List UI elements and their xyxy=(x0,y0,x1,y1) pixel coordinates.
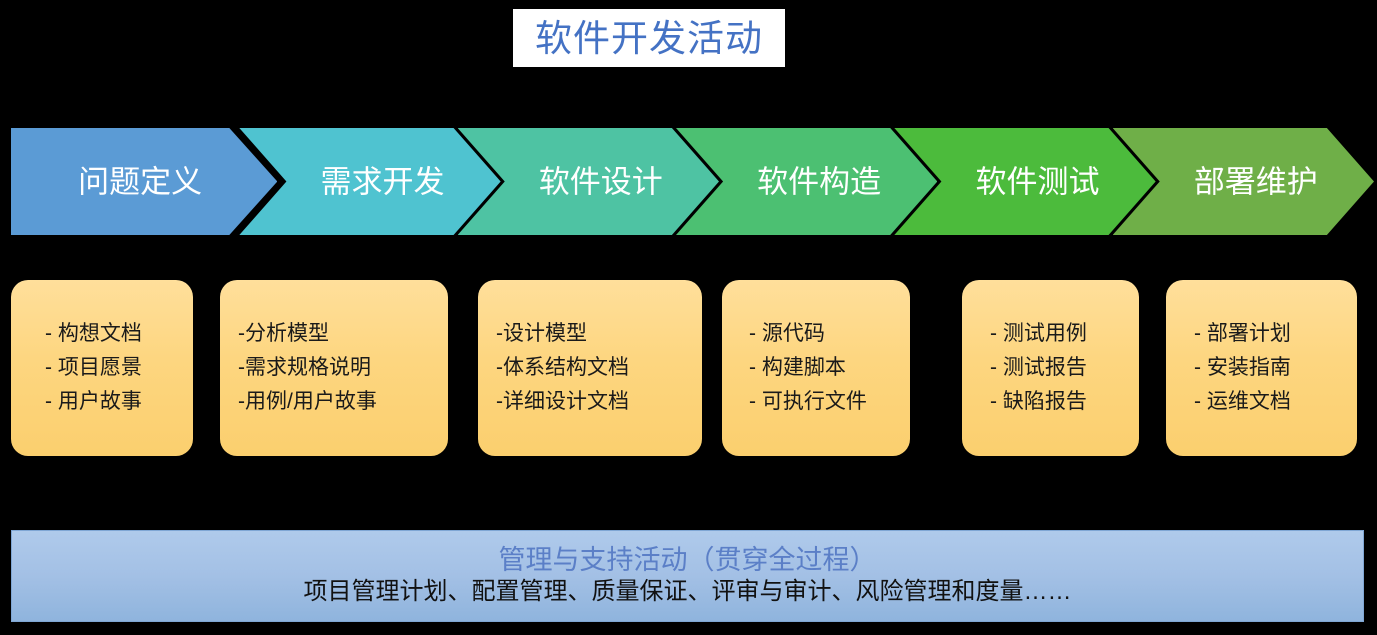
deliverable-item: -需求规格说明 xyxy=(238,351,448,385)
deliverable-item: - 安装指南 xyxy=(1194,351,1357,385)
deliverable-item: - 测试报告 xyxy=(990,351,1139,385)
deliverable-item: - 构建脚本 xyxy=(749,351,910,385)
deliverable-list: -设计模型-体系结构文档-详细设计文档 xyxy=(478,317,702,419)
phase-chevron-1[interactable]: 问题定义 xyxy=(11,128,277,235)
support-activities-bar: 管理与支持活动（贯穿全过程） 项目管理计划、配置管理、质量保证、评审与审计、风险… xyxy=(11,530,1364,622)
deliverable-list: - 测试用例- 测试报告- 缺陷报告 xyxy=(962,317,1139,419)
phase-label-6: 部署维护 xyxy=(1167,166,1345,197)
deliverable-item: -分析模型 xyxy=(238,317,448,351)
phase-label-5: 软件测试 xyxy=(948,166,1126,197)
diagram-title-box: 软件开发活动 xyxy=(513,9,785,67)
deliverable-item: - 可执行文件 xyxy=(749,385,910,419)
deliverable-item: -设计模型 xyxy=(496,317,702,351)
deliverable-card-1[interactable]: - 构想文档- 项目愿景- 用户故事 xyxy=(11,280,193,456)
deliverable-list: - 源代码- 构建脚本- 可执行文件 xyxy=(722,317,910,419)
deliverable-card-3[interactable]: -设计模型-体系结构文档-详细设计文档 xyxy=(478,280,702,456)
deliverable-list: -分析模型-需求规格说明-用例/用户故事 xyxy=(220,317,448,419)
diagram-canvas: 软件开发活动 问题定义需求开发软件设计软件构造软件测试部署维护 - 构想文档- … xyxy=(0,0,1377,635)
deliverable-item: - 源代码 xyxy=(749,317,910,351)
deliverable-item: - 部署计划 xyxy=(1194,317,1357,351)
phase-label-2: 需求开发 xyxy=(293,166,471,197)
support-activities-subtitle: 项目管理计划、配置管理、质量保证、评审与审计、风险管理和度量…… xyxy=(304,578,1072,607)
phase-chevron-2[interactable]: 需求开发 xyxy=(239,128,500,235)
deliverable-item: - 用户故事 xyxy=(45,385,193,419)
phase-label-4: 软件构造 xyxy=(730,166,908,197)
deliverable-item: - 测试用例 xyxy=(990,317,1139,351)
deliverable-item: -详细设计文档 xyxy=(496,385,702,419)
deliverable-item: -体系结构文档 xyxy=(496,351,702,385)
phase-label-1: 问题定义 xyxy=(51,166,229,197)
deliverable-item: -用例/用户故事 xyxy=(238,385,448,419)
deliverable-item: - 项目愿景 xyxy=(45,351,193,385)
deliverable-item: - 构想文档 xyxy=(45,317,193,351)
process-chevron-band: 问题定义需求开发软件设计软件构造软件测试部署维护 xyxy=(11,128,1369,235)
deliverable-list: - 构想文档- 项目愿景- 用户故事 xyxy=(11,317,193,419)
deliverable-card-2[interactable]: -分析模型-需求规格说明-用例/用户故事 xyxy=(220,280,448,456)
support-activities-title: 管理与支持活动（贯穿全过程） xyxy=(499,545,877,575)
deliverable-card-4[interactable]: - 源代码- 构建脚本- 可执行文件 xyxy=(722,280,910,456)
page-title: 软件开发活动 xyxy=(535,20,763,57)
deliverable-item: - 缺陷报告 xyxy=(990,385,1139,419)
deliverable-card-6[interactable]: - 部署计划- 安装指南- 运维文档 xyxy=(1166,280,1357,456)
deliverable-item: - 运维文档 xyxy=(1194,385,1357,419)
deliverable-list: - 部署计划- 安装指南- 运维文档 xyxy=(1166,317,1357,419)
deliverable-card-5[interactable]: - 测试用例- 测试报告- 缺陷报告 xyxy=(962,280,1139,456)
phase-label-3: 软件设计 xyxy=(512,166,690,197)
